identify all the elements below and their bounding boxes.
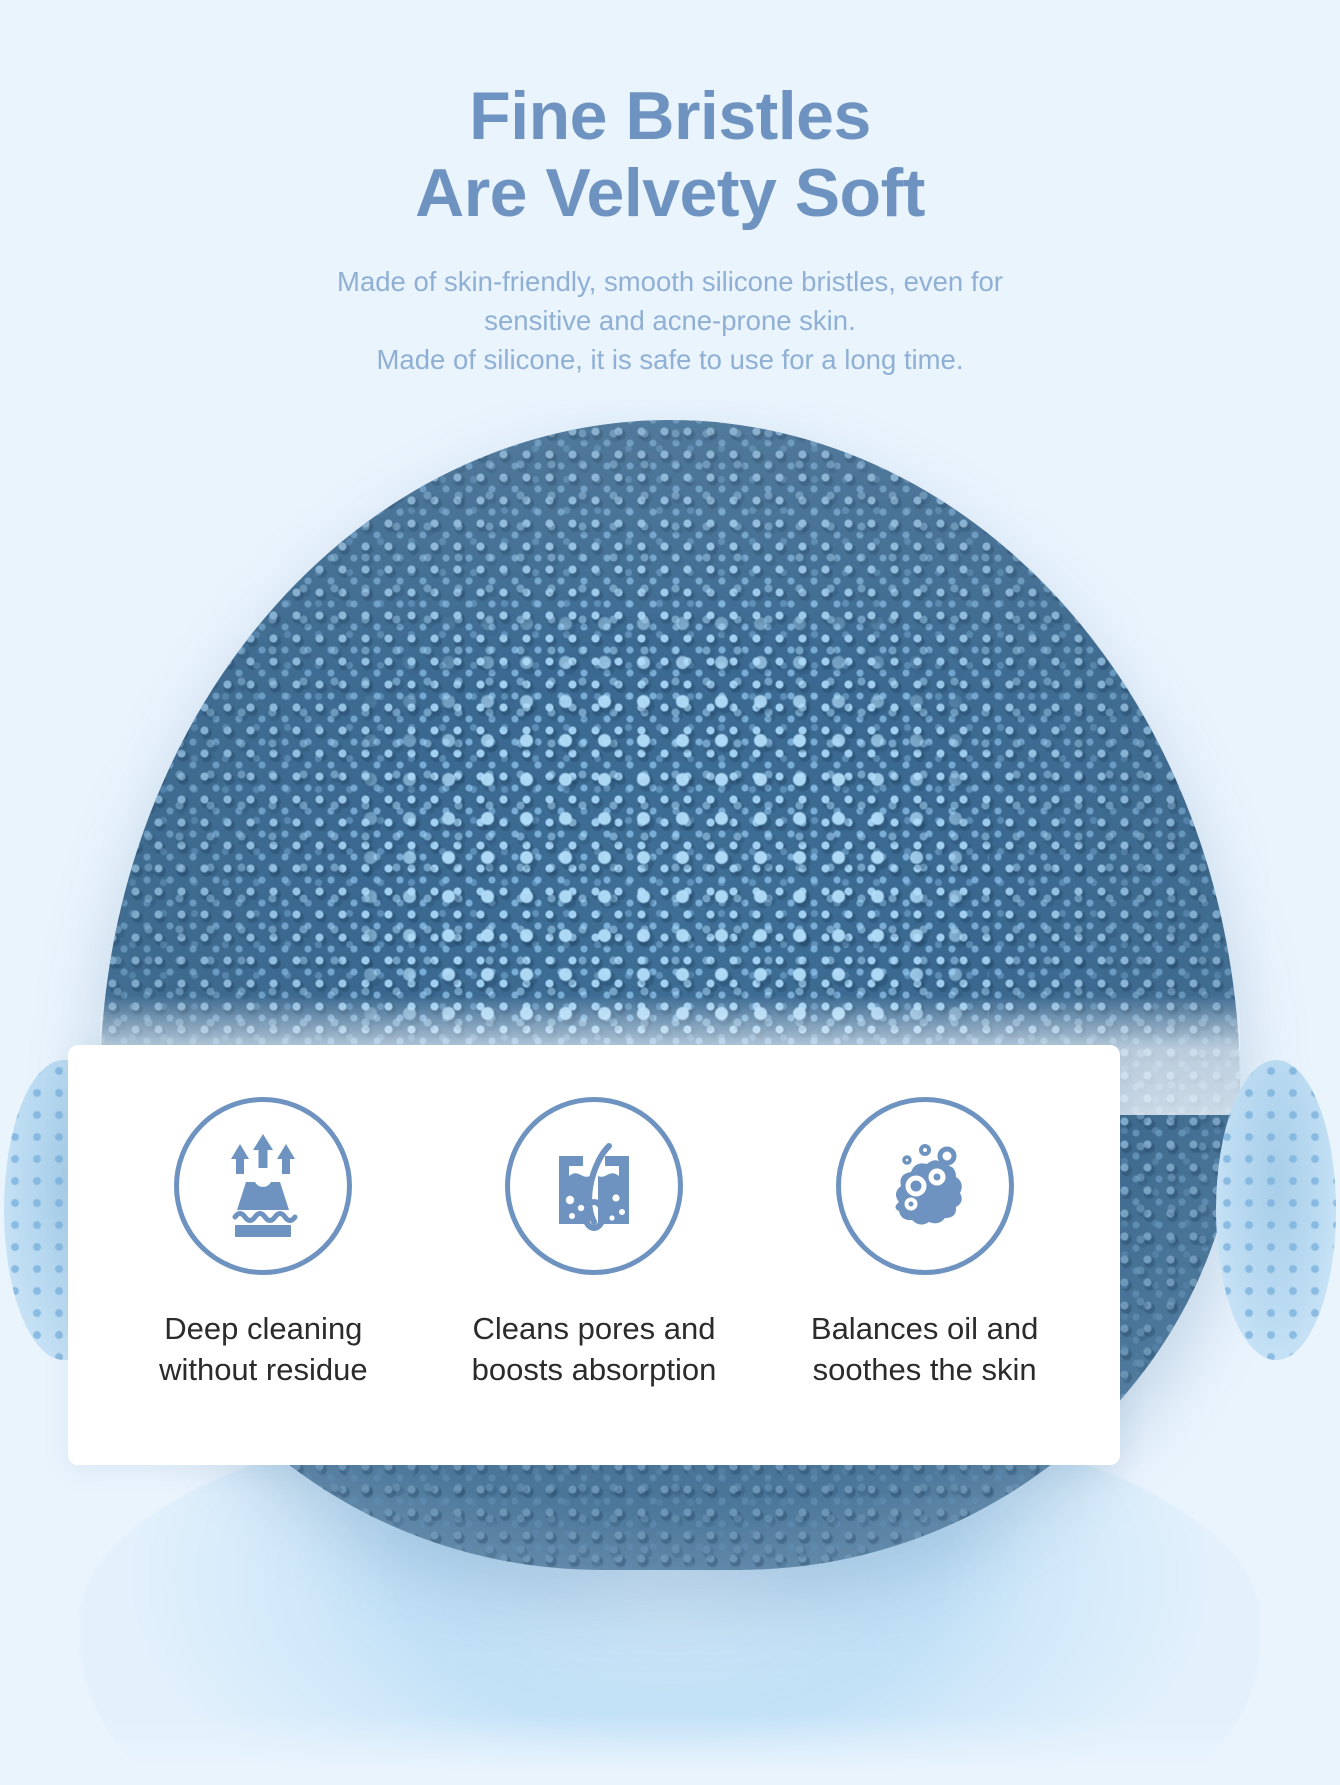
feature-caption-line-1: Cleans pores and	[472, 1309, 717, 1350]
subtitle-line-1: Made of skin-friendly, smooth silicone b…	[0, 262, 1340, 301]
skin-layers-arrows-icon	[174, 1097, 352, 1275]
brush-head-right-lobe	[1216, 1060, 1336, 1360]
feature-caption-line-2: soothes the skin	[811, 1350, 1039, 1391]
header: Fine Bristles Are Velvety Soft Made of s…	[0, 0, 1340, 380]
feature-item-balances-oil[interactable]: Balances oil and soothes the skin	[765, 1097, 1085, 1391]
feature-caption: Deep cleaning without residue	[159, 1309, 368, 1391]
pore-follicle-icon	[505, 1097, 683, 1275]
feature-caption-line-2: without residue	[159, 1350, 368, 1391]
subtitle: Made of skin-friendly, smooth silicone b…	[0, 262, 1340, 380]
feature-caption-line-1: Deep cleaning	[159, 1309, 368, 1350]
foam-bubbles-icon	[836, 1097, 1014, 1275]
subtitle-line-3: Made of silicone, it is safe to use for …	[0, 340, 1340, 379]
bottom-fade	[0, 1715, 1340, 1785]
feature-caption: Cleans pores and boosts absorption	[472, 1309, 717, 1391]
subtitle-line-2: sensitive and acne-prone skin.	[0, 301, 1340, 340]
feature-item-deep-cleaning[interactable]: Deep cleaning without residue	[103, 1097, 423, 1391]
brush-head-right-lobe-bristles	[1216, 1060, 1336, 1360]
feature-caption: Balances oil and soothes the skin	[811, 1309, 1039, 1391]
title-line-2: Are Velvety Soft	[0, 155, 1340, 232]
feature-caption-line-1: Balances oil and	[811, 1309, 1039, 1350]
title-line-1: Fine Bristles	[0, 78, 1340, 155]
product-feature-page: Fine Bristles Are Velvety Soft Made of s…	[0, 0, 1340, 1785]
page-title: Fine Bristles Are Velvety Soft	[0, 78, 1340, 232]
feature-card: Deep cleaning without residue	[68, 1045, 1120, 1465]
feature-item-cleans-pores[interactable]: Cleans pores and boosts absorption	[434, 1097, 754, 1391]
feature-caption-line-2: boosts absorption	[472, 1350, 717, 1391]
